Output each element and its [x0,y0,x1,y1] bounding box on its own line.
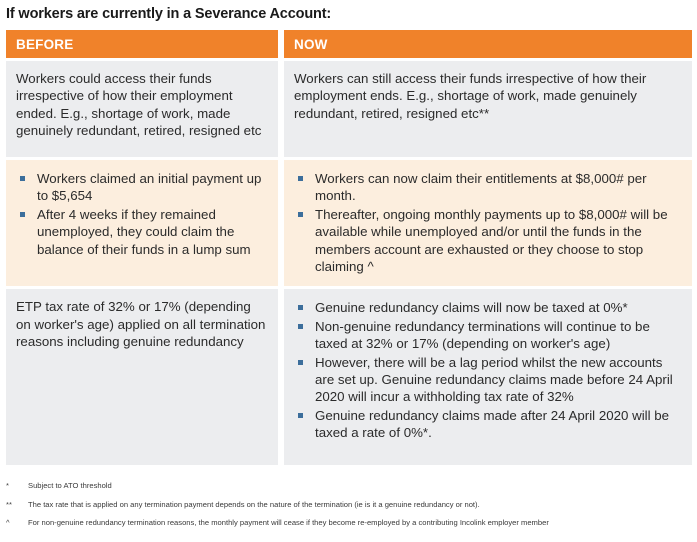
table-row: Workers could access their funds irrespe… [6,61,692,157]
column-header-now: NOW [284,37,328,52]
footnote-item: ^ For non-genuine redundancy termination… [6,518,692,528]
cell-now-row2: Workers can now claim their entitlements… [284,160,692,286]
page-title: If workers are currently in a Severance … [0,0,697,23]
cell-now-row1: Workers can still access their funds irr… [284,61,692,157]
list-item: Thereafter, ongoing monthly payments up … [296,206,682,276]
comparison-table: BEFORE NOW Workers could access their fu… [6,30,692,465]
footnote-marker: * [6,481,28,491]
bullet-list: Workers can now claim their entitlements… [296,170,682,275]
list-item: Genuine redundancy claims made after 24 … [296,407,682,442]
header-cell-before: BEFORE [6,30,278,58]
footnotes-block: * Subject to ATO threshold ** The tax ra… [6,481,692,537]
list-item: Genuine redundancy claims will now be ta… [296,299,682,316]
footnote-text: For non-genuine redundancy termination r… [28,518,692,528]
bullet-list: Workers claimed an initial payment up to… [18,170,268,258]
table-row: Workers claimed an initial payment up to… [6,160,692,286]
cell-text: ETP tax rate of 32% or 17% (depending on… [16,298,268,350]
cell-text: Workers can still access their funds irr… [294,70,682,122]
severance-account-comparison-page: If workers are currently in a Severance … [0,0,697,542]
list-item: Workers can now claim their entitlements… [296,170,682,205]
list-item: Workers claimed an initial payment up to… [18,170,268,205]
list-item: After 4 weeks if they remained unemploye… [18,206,268,258]
cell-text: Workers could access their funds irrespe… [16,70,268,139]
cell-now-row3: Genuine redundancy claims will now be ta… [284,289,692,465]
footnote-marker: ^ [6,518,28,528]
footnote-marker: ** [6,500,28,510]
bullet-list: Genuine redundancy claims will now be ta… [296,299,682,441]
table-row: ETP tax rate of 32% or 17% (depending on… [6,289,692,465]
footnote-text: The tax rate that is applied on any term… [28,500,692,510]
list-item: However, there will be a lag period whil… [296,354,682,406]
footnote-item: ** The tax rate that is applied on any t… [6,500,692,510]
cell-before-row2: Workers claimed an initial payment up to… [6,160,278,286]
table-header-row: BEFORE NOW [6,30,692,58]
column-header-before: BEFORE [6,37,73,52]
list-item: Non-genuine redundancy terminations will… [296,318,682,353]
footnote-text: Subject to ATO threshold [28,481,692,491]
footnote-item: * Subject to ATO threshold [6,481,692,491]
cell-before-row3: ETP tax rate of 32% or 17% (depending on… [6,289,278,465]
cell-before-row1: Workers could access their funds irrespe… [6,61,278,157]
header-cell-now: NOW [284,30,692,58]
